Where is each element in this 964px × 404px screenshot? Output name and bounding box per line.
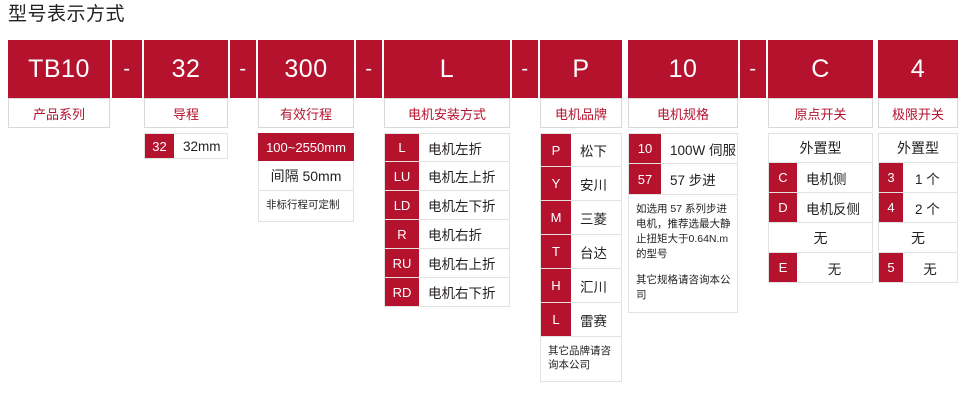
- table-row[interactable]: P 松下: [540, 133, 622, 167]
- option-code: L: [385, 134, 419, 161]
- limit-switch-group-external: 外置型: [878, 133, 958, 163]
- option-code: 4: [879, 193, 903, 222]
- table-row[interactable]: 3 1 个: [878, 163, 958, 193]
- option-code: P: [541, 134, 571, 166]
- stroke-interval: 间隔 50mm: [258, 161, 354, 191]
- limit-switch-options: 外置型 3 1 个 4 2 个 无 5 无: [878, 133, 958, 283]
- motor-spec-note-1: 如选用 57 系列步进电机，推荐选最大静止扭矩大于0.64N.m 的型号: [636, 202, 731, 262]
- table-row[interactable]: L 电机左折: [384, 133, 510, 162]
- option-code: L: [541, 303, 571, 336]
- option-desc: 雷赛: [571, 303, 621, 336]
- column-limit-switch: 极限开关 外置型 3 1 个 4 2 个 无 5 无: [878, 98, 958, 283]
- option-desc: 电机左折: [419, 134, 509, 161]
- option-desc: 2 个: [903, 193, 957, 222]
- stroke-note: 非标行程可定制: [258, 191, 354, 222]
- table-row[interactable]: LD 电机左下折: [384, 191, 510, 220]
- option-desc: 无: [797, 253, 872, 282]
- motor-spec-options: 10 100W 伺服 57 57 步进 如选用 57 系列步进电机，推荐选最大静…: [628, 133, 738, 313]
- option-code: 10: [629, 134, 661, 163]
- code-cell-motor-brand[interactable]: P: [540, 40, 622, 98]
- option-desc: 电机侧: [797, 163, 872, 192]
- stroke-options: 100~2550mm 间隔 50mm 非标行程可定制: [258, 133, 354, 222]
- table-row[interactable]: R 电机右折: [384, 220, 510, 249]
- option-desc: 电机左上折: [419, 162, 509, 190]
- table-row[interactable]: C 电机侧: [768, 163, 873, 193]
- model-code-diagram: 型号表示方式 TB10 - 32 - 300 - L - P 10 - C 4 …: [0, 0, 964, 404]
- code-cell-product-series[interactable]: TB10: [8, 40, 110, 98]
- column-lead: 导程 32 32mm: [144, 98, 228, 159]
- code-strip: TB10 - 32 - 300 - L - P 10 - C 4: [0, 40, 964, 98]
- table-row[interactable]: 5 无: [878, 253, 958, 283]
- column-head-motor-mount: 电机安装方式: [384, 98, 510, 128]
- code-cell-origin-switch[interactable]: C: [768, 40, 873, 98]
- column-motor-spec: 电机规格 10 100W 伺服 57 57 步进 如选用 57 系列步进电机，推…: [628, 98, 738, 313]
- column-head-stroke: 有效行程: [258, 98, 354, 128]
- motor-brand-options: P 松下 Y 安川 M 三菱 T 台达 H 汇川 L 雷赛: [540, 133, 622, 382]
- column-origin-switch: 原点开关 外置型 C 电机侧 D 电机反侧 无 E 无: [768, 98, 873, 283]
- code-separator-4: -: [512, 40, 538, 98]
- option-desc: 电机右上折: [419, 249, 509, 277]
- table-row[interactable]: Y 安川: [540, 167, 622, 201]
- option-desc: 电机右下折: [419, 278, 509, 306]
- option-desc: 汇川: [571, 269, 621, 302]
- option-code: 57: [629, 164, 661, 194]
- option-desc: 松下: [571, 134, 621, 166]
- motor-spec-notes: 如选用 57 系列步进电机，推荐选最大静止扭矩大于0.64N.m 的型号 其它规…: [628, 195, 738, 313]
- column-head-limit-switch: 极限开关: [878, 98, 958, 128]
- option-code: T: [541, 235, 571, 268]
- limit-switch-group-none: 无: [878, 223, 958, 253]
- table-row[interactable]: RD 电机右下折: [384, 278, 510, 307]
- option-code: RD: [385, 278, 419, 306]
- table-row[interactable]: RU 电机右上折: [384, 249, 510, 278]
- column-head-product-series: 产品系列: [8, 98, 110, 128]
- option-desc: 32mm: [174, 134, 227, 158]
- table-row[interactable]: T 台达: [540, 235, 622, 269]
- table-row[interactable]: M 三菱: [540, 201, 622, 235]
- option-desc: 电机右折: [419, 220, 509, 248]
- option-code: RU: [385, 249, 419, 277]
- origin-switch-group-none: 无: [768, 223, 873, 253]
- option-desc: 台达: [571, 235, 621, 268]
- code-separator-1: -: [112, 40, 142, 98]
- table-row[interactable]: LU 电机左上折: [384, 162, 510, 191]
- table-row[interactable]: 4 2 个: [878, 193, 958, 223]
- option-code: C: [769, 163, 797, 192]
- code-separator-3: -: [356, 40, 382, 98]
- column-head-motor-spec: 电机规格: [628, 98, 738, 128]
- motor-spec-note-2: 其它规格请咨询本公司: [636, 273, 731, 303]
- column-head-origin-switch: 原点开关: [768, 98, 873, 128]
- option-code: E: [769, 253, 797, 282]
- option-desc: 电机反侧: [797, 193, 872, 222]
- option-code: R: [385, 220, 419, 248]
- column-motor-mount: 电机安装方式 L 电机左折 LU 电机左上折 LD 电机左下折 R 电机右折 R…: [384, 98, 510, 307]
- origin-switch-group-external: 外置型: [768, 133, 873, 163]
- motor-mount-options: L 电机左折 LU 电机左上折 LD 电机左下折 R 电机右折 RU 电机右上折…: [384, 133, 510, 307]
- column-stroke: 有效行程 100~2550mm 间隔 50mm 非标行程可定制: [258, 98, 354, 222]
- code-cell-stroke[interactable]: 300: [258, 40, 354, 98]
- table-row[interactable]: L 雷赛: [540, 303, 622, 337]
- column-head-lead: 导程: [144, 98, 228, 128]
- option-code: LU: [385, 162, 419, 190]
- code-cell-limit-switch[interactable]: 4: [878, 40, 958, 98]
- column-head-motor-brand: 电机品牌: [540, 98, 622, 128]
- code-cell-motor-spec[interactable]: 10: [628, 40, 738, 98]
- option-code: 32: [145, 134, 174, 158]
- option-code: LD: [385, 191, 419, 219]
- code-cell-lead[interactable]: 32: [144, 40, 228, 98]
- column-motor-brand: 电机品牌 P 松下 Y 安川 M 三菱 T 台达 H 汇川: [540, 98, 622, 382]
- option-desc: 57 步进: [661, 164, 737, 194]
- table-row[interactable]: 10 100W 伺服: [628, 133, 738, 164]
- code-cell-motor-mount[interactable]: L: [384, 40, 510, 98]
- option-desc: 100W 伺服: [661, 134, 737, 163]
- option-code: Y: [541, 167, 571, 200]
- motor-brand-note: 其它品牌请咨询本公司: [540, 337, 622, 382]
- option-desc: 安川: [571, 167, 621, 200]
- lead-options: 32 32mm: [144, 133, 228, 159]
- table-row[interactable]: 32 32mm: [144, 133, 228, 159]
- option-code: H: [541, 269, 571, 302]
- origin-switch-options: 外置型 C 电机侧 D 电机反侧 无 E 无: [768, 133, 873, 283]
- stroke-range: 100~2550mm: [258, 133, 354, 161]
- page-title: 型号表示方式: [8, 2, 125, 28]
- table-row[interactable]: E 无: [768, 253, 873, 283]
- option-desc: 无: [903, 253, 957, 282]
- code-separator-2: -: [230, 40, 256, 98]
- table-row[interactable]: D 电机反侧: [768, 193, 873, 223]
- option-desc: 电机左下折: [419, 191, 509, 219]
- option-desc: 1 个: [903, 163, 957, 192]
- option-desc: 三菱: [571, 201, 621, 234]
- option-code: D: [769, 193, 797, 222]
- code-separator-5: -: [740, 40, 766, 98]
- column-product-series: 产品系列: [8, 98, 110, 128]
- table-row[interactable]: 57 57 步进: [628, 164, 738, 195]
- option-code: M: [541, 201, 571, 234]
- table-row[interactable]: H 汇川: [540, 269, 622, 303]
- option-code: 3: [879, 163, 903, 192]
- option-code: 5: [879, 253, 903, 282]
